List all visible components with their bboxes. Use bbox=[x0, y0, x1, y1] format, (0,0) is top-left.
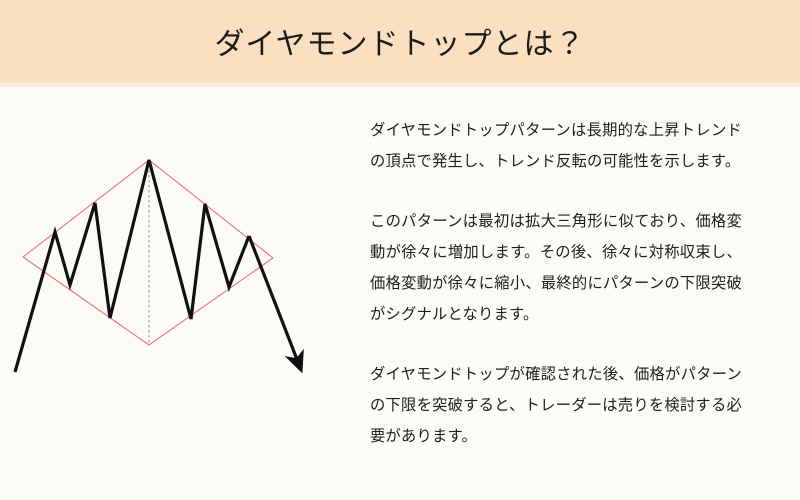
breakout-arrow bbox=[249, 236, 298, 362]
diamond-top-diagram bbox=[0, 87, 340, 500]
paragraph-3: ダイヤモンドトップが確認された後、価格がパターンの下限を突破すると、トレーダーは… bbox=[370, 359, 742, 452]
slide-root: ダイヤモンドトップとは？ ダイヤモンドトップパターンは長期的 bbox=[0, 0, 800, 500]
paragraph-2: このパターンは最初は拡大三角形に似ており、価格変動が徐々に増加します。その後、徐… bbox=[370, 206, 742, 330]
diagram-pane bbox=[0, 87, 340, 500]
page-title: ダイヤモンドトップとは？ bbox=[0, 0, 800, 82]
description-text-pane: ダイヤモンドトップパターンは長期的な上昇トレンドの頂点で発生し、トレンド反転の可… bbox=[370, 115, 742, 452]
price-zigzag-line bbox=[15, 160, 249, 372]
slide-content: ダイヤモンドトップパターンは長期的な上昇トレンドの頂点で発生し、トレンド反転の可… bbox=[0, 87, 800, 500]
paragraph-1: ダイヤモンドトップパターンは長期的な上昇トレンドの頂点で発生し、トレンド反転の可… bbox=[370, 115, 742, 177]
